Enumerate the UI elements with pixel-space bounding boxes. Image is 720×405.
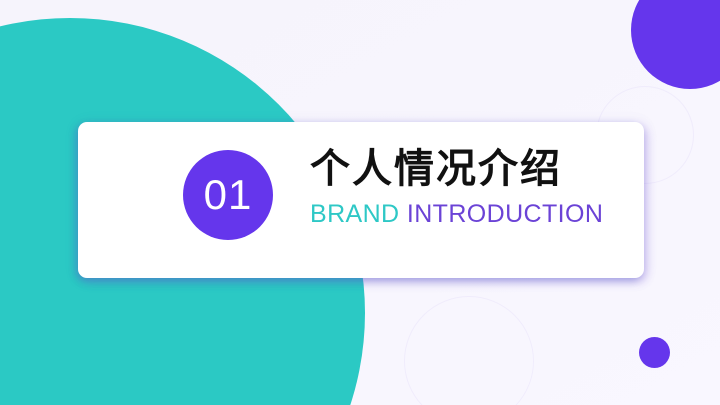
- subtitle-introduction-word: INTRODUCTION: [407, 200, 603, 228]
- presentation-slide: 01 个人情况介绍 BRAND INTRODUCTION: [0, 0, 720, 405]
- page-subtitle: BRAND INTRODUCTION: [310, 201, 630, 229]
- decorative-ring-icon: [404, 296, 534, 405]
- page-title: 个人情况介绍: [310, 146, 630, 192]
- purple-circle-icon: [631, 0, 720, 89]
- purple-dot-icon: [639, 337, 670, 368]
- section-number-badge: 01: [183, 150, 273, 240]
- section-number-label: 01: [204, 174, 253, 216]
- section-title-text-block: 个人情况介绍 BRAND INTRODUCTION: [310, 146, 630, 229]
- section-title-card: 01 个人情况介绍 BRAND INTRODUCTION: [78, 122, 644, 278]
- subtitle-brand-word: BRAND: [310, 200, 400, 228]
